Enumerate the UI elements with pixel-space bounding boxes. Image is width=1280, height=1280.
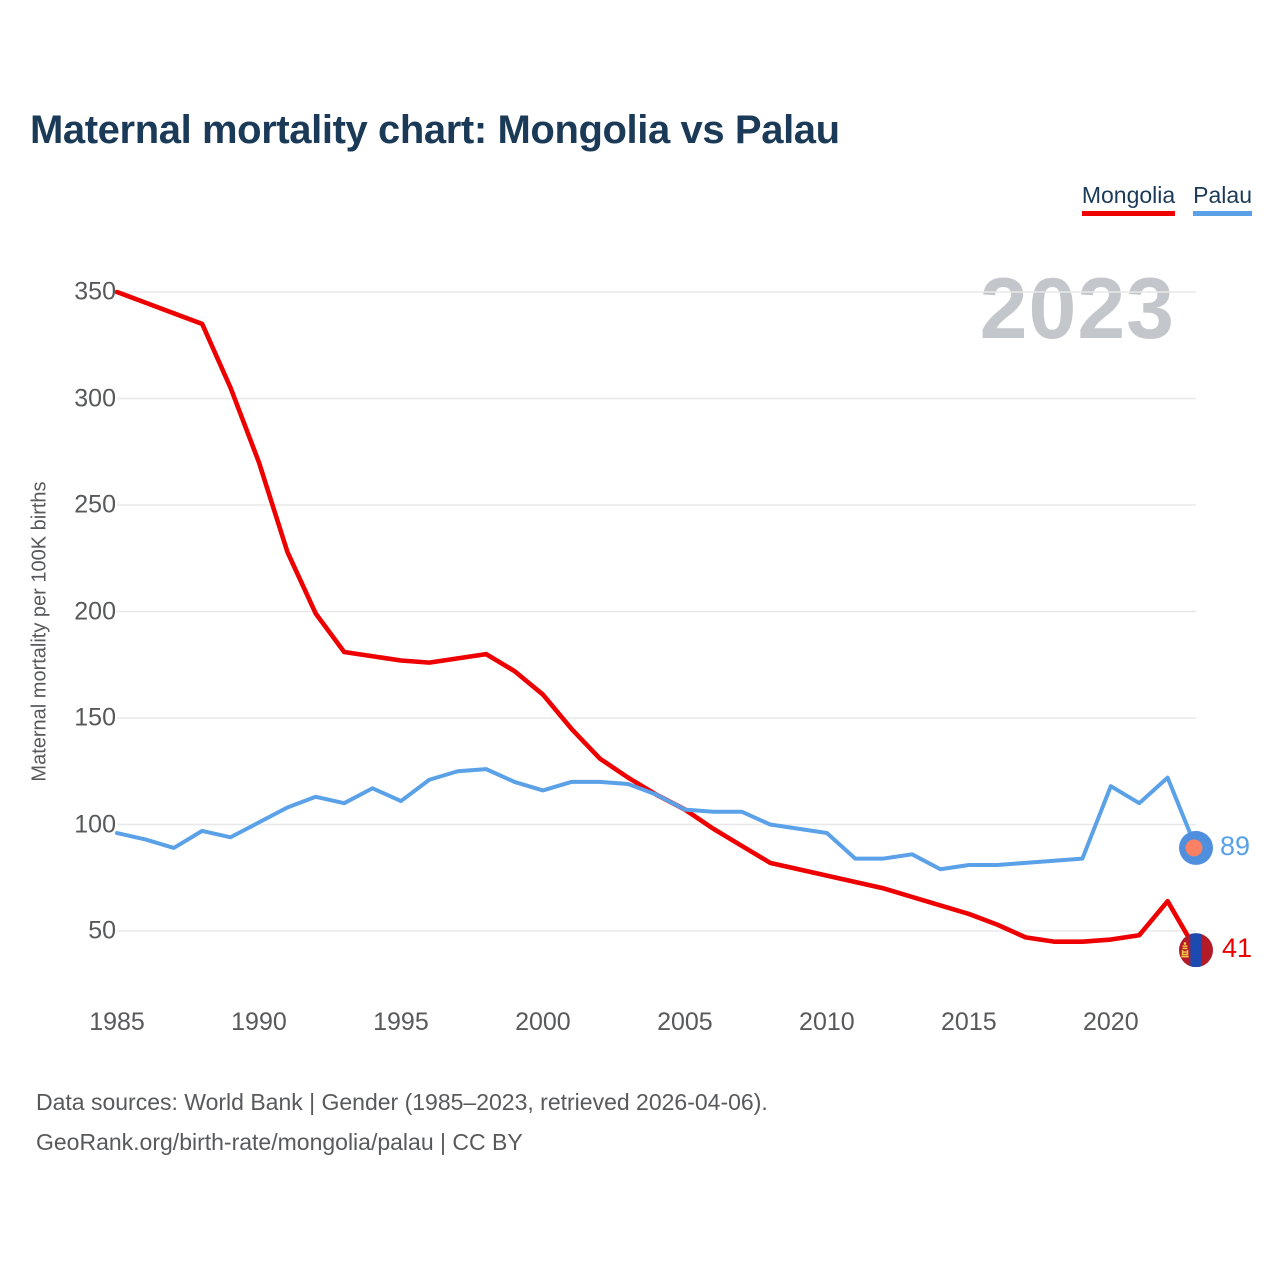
gridlines: [117, 292, 1196, 931]
x-axis-tick-label: 1990: [231, 1008, 287, 1037]
x-axis-tick-label: 1995: [373, 1008, 429, 1037]
legend-item-mongolia[interactable]: Mongolia: [1082, 183, 1175, 216]
endpoint-value-mongolia: 41: [1222, 933, 1252, 964]
legend-color-swatch-palau: [1193, 211, 1252, 216]
year-watermark: 2023: [980, 266, 1175, 352]
y-axis-title: Maternal mortality per 100K births: [29, 462, 52, 802]
series-line-palau: [117, 769, 1196, 869]
footer: Data sources: World Bank | Gender (1985–…: [36, 1082, 768, 1162]
page-title: Maternal mortality chart: Mongolia vs Pa…: [30, 108, 840, 153]
x-axis-tick-label: 1985: [89, 1008, 145, 1037]
y-axis-tick-label: 150: [74, 704, 116, 733]
legend-item-palau[interactable]: Palau: [1193, 183, 1252, 216]
series-lines: [117, 292, 1196, 950]
y-axis-tick-label: 300: [74, 384, 116, 413]
chart-root: Maternal mortality chart: Mongolia vs Pa…: [0, 0, 1280, 1280]
y-axis-tick-label: 50: [88, 917, 116, 946]
x-axis-tick-label: 2015: [941, 1008, 997, 1037]
x-axis-tick-label: 2010: [799, 1008, 855, 1037]
chart-legend: Mongolia Palau: [1082, 183, 1252, 216]
y-axis-tick-label: 200: [74, 597, 116, 626]
y-axis-tick-label: 350: [74, 278, 116, 307]
footer-data-sources: Data sources: World Bank | Gender (1985–…: [36, 1082, 768, 1122]
x-axis-tick-label: 2005: [657, 1008, 713, 1037]
y-axis-tick-label: 250: [74, 491, 116, 520]
palau-flag-icon: [1179, 831, 1213, 865]
legend-label-mongolia: Mongolia: [1082, 183, 1175, 208]
x-axis-tick-label: 2020: [1083, 1008, 1139, 1037]
series-line-mongolia: [117, 292, 1196, 950]
endpoint-value-palau: 89: [1220, 831, 1250, 862]
y-axis-tick-label: 100: [74, 810, 116, 839]
footer-attribution: GeoRank.org/birth-rate/mongolia/palau | …: [36, 1122, 768, 1162]
legend-color-swatch-mongolia: [1082, 211, 1175, 216]
mongolia-flag-icon: [1179, 933, 1213, 967]
x-axis-tick-label: 2000: [515, 1008, 571, 1037]
legend-label-palau: Palau: [1193, 183, 1252, 208]
